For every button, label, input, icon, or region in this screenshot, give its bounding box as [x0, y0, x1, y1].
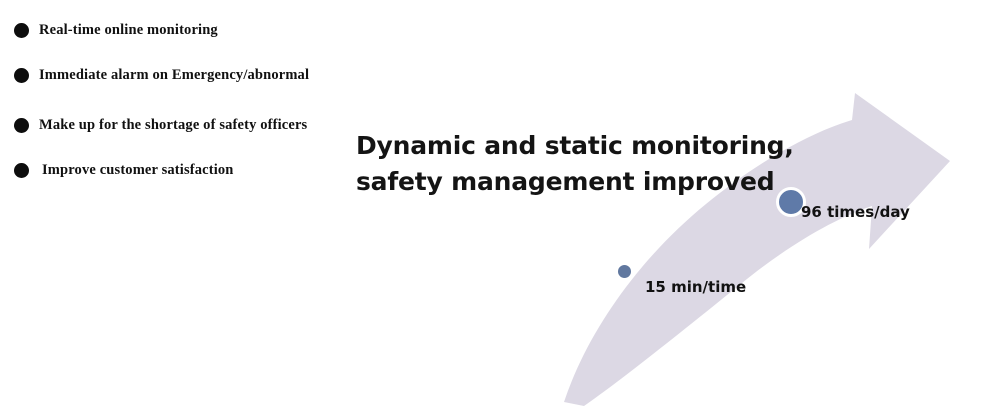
data-point-label-large: 96 times/day — [801, 203, 910, 221]
data-point-label-small: 15 min/time — [645, 278, 746, 296]
diagram-canvas: Real-time online monitoring Immediate al… — [0, 0, 1000, 406]
data-point-marker-small — [616, 263, 633, 280]
headline-line-2: safety management improved — [356, 164, 794, 200]
headline-line-1: Dynamic and static monitoring, — [356, 128, 794, 164]
headline: Dynamic and static monitoring, safety ma… — [356, 128, 794, 200]
